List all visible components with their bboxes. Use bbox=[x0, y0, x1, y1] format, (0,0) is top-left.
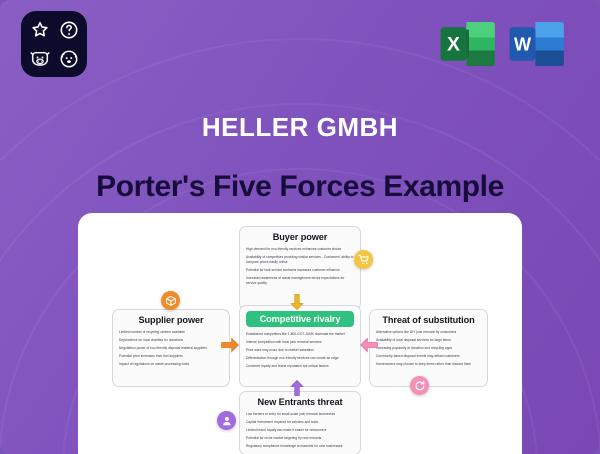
slide-canvas: X W HELLER GMBH Porter's Five Forces Exa… bbox=[0, 0, 600, 454]
pet-scan-logo-icon bbox=[21, 11, 87, 77]
force-box-rivalry[interactable]: Competitive rivalry Established competit… bbox=[239, 305, 361, 387]
list-item: Low barriers to entry for small-scale ju… bbox=[246, 412, 354, 417]
list-item: Limited number of recycling centers avai… bbox=[119, 330, 223, 335]
badge-package-box-icon bbox=[161, 291, 180, 310]
force-bullets-supplier: Limited number of recycling centers avai… bbox=[119, 330, 223, 367]
excel-letter: X bbox=[447, 33, 460, 55]
page-title: Porter's Five Forces Example bbox=[0, 170, 600, 204]
star-icon bbox=[29, 19, 51, 41]
force-title-rivalry: Competitive rivalry bbox=[246, 311, 354, 327]
force-bullets-rivalry: Established competitors like 1-800-GOT-J… bbox=[246, 332, 354, 369]
force-bullets-substitution: Alternative options like DIY junk remova… bbox=[376, 330, 481, 367]
badge-shopping-cart-icon bbox=[354, 250, 373, 269]
force-box-entrants[interactable]: New Entrants threat Low barriers to entr… bbox=[239, 391, 361, 454]
word-file-icon[interactable]: W bbox=[507, 13, 569, 75]
list-item: Community-based disposal events may attr… bbox=[376, 354, 481, 359]
list-item: Increasing popularity of donation and re… bbox=[376, 346, 481, 351]
list-item: Customer loyalty and brand reputation ar… bbox=[246, 364, 354, 369]
list-item: Alternative options like DIY junk remova… bbox=[376, 330, 481, 335]
force-bullets-buyer: High demand for eco-friendly services en… bbox=[246, 247, 354, 286]
badge-user-person-icon bbox=[217, 411, 236, 430]
list-item: Limited brand loyalty can make it easier… bbox=[246, 428, 354, 433]
arrow-left-icon bbox=[359, 335, 379, 355]
force-title-substitution: Threat of substitution bbox=[376, 315, 481, 325]
question-mark-icon bbox=[58, 19, 80, 41]
excel-file-icon[interactable]: X bbox=[438, 13, 500, 75]
list-item: Availability of local disposal services … bbox=[376, 338, 481, 343]
force-box-supplier[interactable]: Supplier power Limited number of recycli… bbox=[112, 309, 230, 387]
arrow-up-icon bbox=[286, 379, 308, 397]
list-item: High demand for eco-friendly services en… bbox=[246, 247, 354, 252]
list-item: Increased awareness of waste management … bbox=[246, 276, 354, 286]
list-item: Potential price increases from fuel supp… bbox=[119, 354, 223, 359]
list-item: Dependence on local charities for donati… bbox=[119, 338, 223, 343]
list-item: Potential for bulk service contracts inc… bbox=[246, 268, 354, 273]
arrow-right-icon bbox=[220, 335, 240, 355]
list-item: Price wars may occur due to market satur… bbox=[246, 348, 354, 353]
list-item: Established competitors like 1-800-GOT-J… bbox=[246, 332, 354, 337]
list-item: Capital investment required for vehicles… bbox=[246, 420, 354, 425]
badge-recycle-refresh-icon bbox=[410, 376, 429, 395]
force-title-buyer: Buyer power bbox=[246, 232, 354, 242]
arrow-down-icon bbox=[286, 293, 308, 311]
force-title-supplier: Supplier power bbox=[119, 315, 223, 325]
recycle-refresh-icon bbox=[414, 380, 426, 392]
list-item: Differentiation through eco-friendly ser… bbox=[246, 356, 354, 361]
list-item: Intense competition with local junk remo… bbox=[246, 340, 354, 345]
list-item: Homeowners may choose to keep items rath… bbox=[376, 362, 481, 367]
list-item: Availability of competitors providing si… bbox=[246, 255, 354, 265]
word-letter: W bbox=[514, 34, 532, 54]
force-box-substitution[interactable]: Threat of substitution Alternative optio… bbox=[369, 309, 488, 387]
shopping-cart-icon bbox=[358, 254, 370, 266]
list-item: Potential for niche market targeting by … bbox=[246, 436, 354, 441]
list-item: Negotiation power of eco-friendly dispos… bbox=[119, 346, 223, 351]
user-person-icon bbox=[221, 415, 233, 427]
force-title-entrants: New Entrants threat bbox=[246, 397, 354, 407]
list-item: Regulatory compliance knowledge is essen… bbox=[246, 444, 354, 449]
list-item: Impact of regulations on waste processin… bbox=[119, 362, 223, 367]
dog-face-icon bbox=[58, 48, 80, 70]
cow-face-icon bbox=[29, 48, 51, 70]
diagram-card: Buyer power High demand for eco-friendly… bbox=[78, 213, 522, 454]
company-name: HELLER GMBH bbox=[0, 112, 600, 143]
force-bullets-entrants: Low barriers to entry for small-scale ju… bbox=[246, 412, 354, 449]
package-box-icon bbox=[165, 295, 177, 307]
